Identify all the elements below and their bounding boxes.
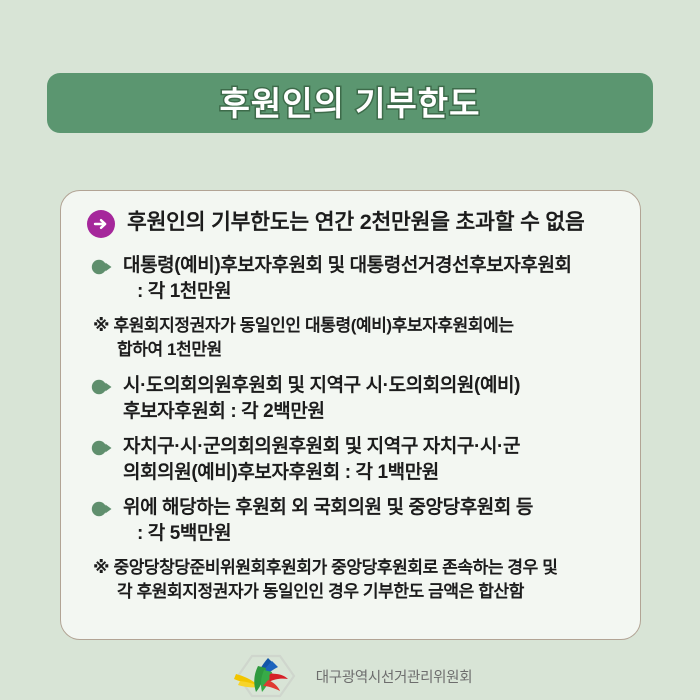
list-item-line: 자치구·시·군의회의원후원회 및 지역구 자치구·시·군 (123, 434, 624, 460)
headline-row: 후원인의 기부한도는 연간 2천만원을 초과할 수 없음 (77, 207, 624, 241)
list-item-line: : 각 5백만원 (123, 521, 624, 547)
list-item: 대통령(예비)후보자후원회 및 대통령선거경선후보자후원회 : 각 1천만원 (77, 253, 624, 305)
note-line: ※ 후원회지정권자가 동일인인 대통령(예비)후보자후원회에는 (93, 314, 624, 338)
footer: 대구광역시선거관리위원회 (0, 652, 700, 700)
note-line: 각 후원회지정권자가 동일인인 경우 기부한도 금액은 합산함 (93, 580, 624, 604)
green-leaf-bullet-icon (91, 379, 115, 395)
list-item: 위에 해당하는 후원회 외 국회의원 및 중앙당후원회 등 : 각 5백만원 (77, 495, 624, 547)
note-line: 합하여 1천만원 (93, 338, 624, 362)
content-list: 후원인의 기부한도는 연간 2천만원을 초과할 수 없음 대통령(예비)후보자후… (77, 207, 624, 604)
organization-name: 대구광역시선거관리위원회 (316, 666, 472, 687)
green-leaf-bullet-icon (91, 440, 115, 456)
note-item: ※ 중앙당창당준비위원회후원회가 중앙당후원회로 존속하는 경우 및 각 후원회… (77, 556, 624, 604)
list-item-line: : 각 1천만원 (123, 279, 624, 305)
list-item-line: 대통령(예비)후보자후원회 및 대통령선거경선후보자후원회 (123, 253, 624, 279)
page-title: 후원인의 기부한도 (219, 87, 480, 120)
list-item: 시·도의회의원후원회 및 지역구 시·도의회의원(예비) 후보자후원회 : 각 … (77, 373, 624, 425)
title-banner: 후원인의 기부한도 (47, 73, 653, 133)
list-item-line: 위에 해당하는 후원회 외 국회의원 및 중앙당후원회 등 (123, 495, 624, 521)
nec-bird-logo (228, 654, 306, 698)
list-item: 자치구·시·군의회의원후원회 및 지역구 자치구·시·군 의회의원(예비)후보자… (77, 434, 624, 486)
list-item-line: 의회의원(예비)후보자후원회 : 각 1백만원 (123, 460, 624, 486)
green-leaf-bullet-icon (91, 501, 115, 517)
content-card: 후원인의 기부한도는 연간 2천만원을 초과할 수 없음 대통령(예비)후보자후… (60, 190, 641, 640)
list-item-line: 후보자후원회 : 각 2백만원 (123, 399, 624, 425)
headline-text: 후원인의 기부한도는 연간 2천만원을 초과할 수 없음 (127, 207, 624, 237)
note-item: ※ 후원회지정권자가 동일인인 대통령(예비)후보자후원회에는 합하여 1천만원 (77, 314, 624, 362)
list-item-line: 시·도의회의원후원회 및 지역구 시·도의회의원(예비) (123, 373, 624, 399)
green-leaf-bullet-icon (91, 259, 115, 275)
note-line: ※ 중앙당창당준비위원회후원회가 중앙당후원회로 존속하는 경우 및 (93, 556, 624, 580)
arrow-right-circle-icon (87, 210, 115, 238)
